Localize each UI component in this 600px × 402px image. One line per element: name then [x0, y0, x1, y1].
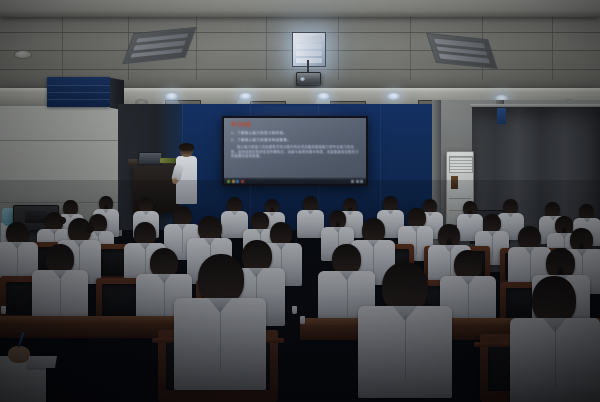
- cup: [300, 316, 305, 324]
- cup: [292, 306, 297, 314]
- audience: [0, 0, 600, 402]
- notepad: [27, 356, 57, 368]
- conference-room-photo: 学习内容 1、了解核心能力的意义和作用。 2、了解核心能力的基本构成要素。 核心…: [0, 0, 600, 402]
- hand: [8, 346, 30, 363]
- cup: [1, 306, 6, 314]
